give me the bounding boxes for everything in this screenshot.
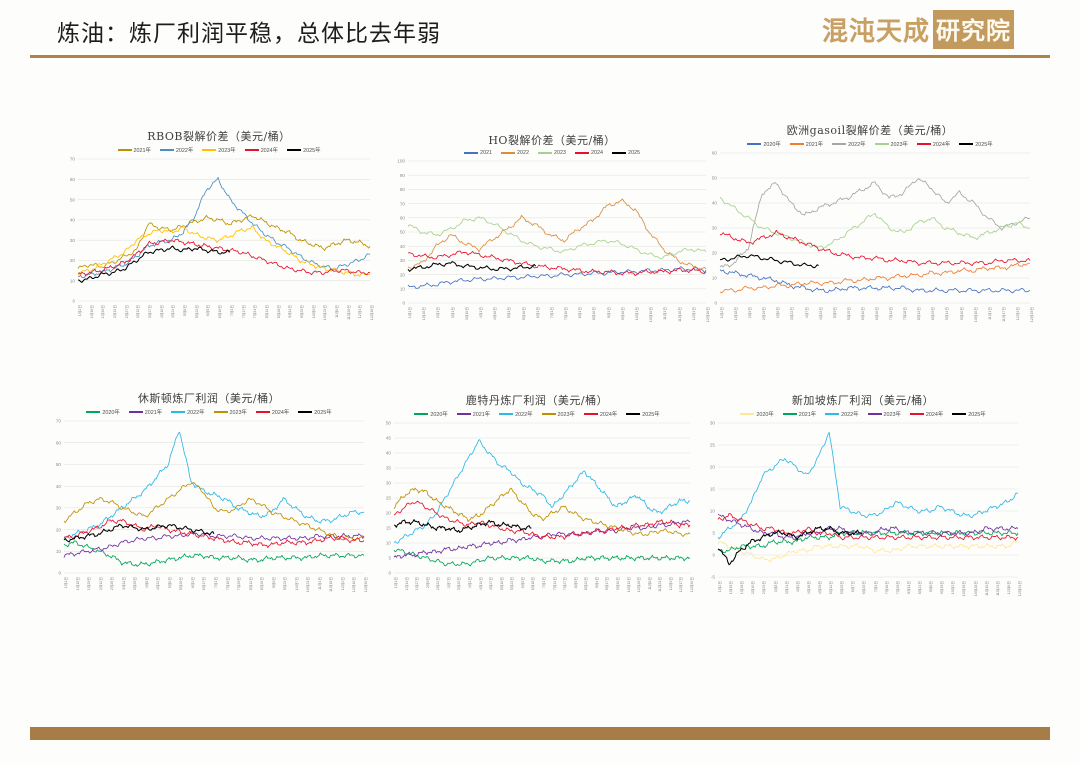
x-axis-tick-label: 4月23日 [819,307,824,320]
svg-text:25: 25 [710,443,716,448]
x-axis-tick-label: 3月11日 [122,577,127,590]
x-axis-tick-label: 3月6日 [776,307,781,318]
x-axis-tick-label: 11月21日 [658,577,663,592]
x-axis-tick-label: 11月18日 [329,577,334,592]
legend-item[interactable]: 2021年 [783,410,816,418]
svg-text:25: 25 [386,496,392,501]
legend-item[interactable]: 2024年 [245,146,278,154]
x-axis-tick-label: 9月23日 [283,577,288,590]
x-axis-tick-label: 5月23日 [510,577,515,590]
brand-logo: 混沌天成 研究院 [818,8,1014,50]
x-axis-tick-label: 2月22日 [436,577,441,590]
x-axis-tick-label: 3月7日 [447,577,452,588]
svg-text:10: 10 [56,549,62,554]
x-axis-tick-label: 11月6日 [335,305,340,318]
legend-item[interactable]: 2023年 [202,146,235,154]
legend-color-swatch [959,143,973,146]
svg-text:-5: -5 [711,575,716,580]
x-axis-tick-label: 6月7日 [851,581,856,592]
legend-color-swatch [584,413,598,416]
series-line [718,541,1018,562]
svg-text:30: 30 [712,226,718,231]
x-axis-tick-label: 11月1日 [663,307,668,320]
series-line [720,230,1030,265]
legend-label: 2023年 [558,410,575,418]
x-axis-tick-label: 7月29日 [237,577,242,590]
x-axis-tick-label: 12月16日 [352,577,357,592]
legend-item[interactable]: 2022年 [171,408,204,416]
chart-legend: 2020年2021年2022年2023年2024年2025年 [700,140,1040,148]
x-axis-labels: 1月2日1月16日1月30日2月13日2月27日3月13日3月27日4月10日4… [58,305,374,335]
svg-text:70: 70 [70,157,76,162]
svg-text:0: 0 [72,299,75,304]
chart-rbob-crack: RBOB裂解价差（美元/桶）2021年2022年2023年2024年2025年0… [58,128,380,335]
series-line [718,530,1018,552]
svg-text:70: 70 [400,201,406,206]
x-axis-tick-label: 4月24日 [171,305,176,318]
x-axis-tick-label: 3月1日 [451,307,456,318]
x-axis-tick-label: 3月8日 [774,581,779,592]
svg-text:90: 90 [400,173,406,178]
legend-item[interactable]: 2024年 [584,410,617,418]
x-axis-tick-label: 11月20日 [347,305,352,320]
x-axis-tick-label: 2月27日 [125,305,130,318]
legend-color-swatch [538,152,552,155]
legend-color-swatch [160,149,174,152]
legend-label: 2025年 [975,140,992,148]
x-axis-tick-label: 6月10日 [861,307,866,320]
x-axis-tick-label: 11月16日 [678,307,683,322]
x-axis-tick-label: 9月30日 [616,577,621,590]
legend-color-swatch [612,152,626,155]
x-axis-tick-label: 8月24日 [918,581,923,594]
legend-label: 2020年 [756,410,773,418]
svg-text:20: 20 [386,511,392,516]
x-axis-tick-label: 8月29日 [931,307,936,320]
legend-color-swatch [747,143,761,146]
x-axis-tick-label: 4月29日 [818,581,823,594]
series-line [78,177,370,277]
legend-label: 2025年 [314,408,331,416]
x-axis-labels: 1月2日1月18日2月3日2月19日3月6日3月22日4月7日4月23日5月9日… [700,307,1034,337]
x-axis-tick-label: 3月25日 [133,577,138,590]
x-axis-tick-label: 2月1日 [436,307,441,318]
svg-text:20: 20 [70,258,76,263]
x-axis-labels: 1月1日1月14日1月27日2月9日2月22日3月7日3月20日4月2日4月14… [374,577,694,607]
x-axis-tick-label: 2月13日 [113,305,118,318]
legend-item[interactable]: 2020年 [740,410,773,418]
legend-color-swatch [917,143,931,146]
legend-color-swatch [542,413,556,416]
plot-area: 05101520253035404550 [374,419,700,577]
legend-item[interactable]: 2022年 [832,140,865,148]
svg-text:40: 40 [400,244,406,249]
legend-item[interactable]: 2023 [538,150,566,156]
x-axis-tick-label: 2月26日 [110,577,115,590]
footer-bar [30,727,1050,740]
x-axis-tick-label: 8月13日 [917,307,922,320]
x-axis-tick-label: 10月21日 [306,577,311,592]
x-axis-tick-label: 10月16日 [649,307,654,322]
x-axis-tick-label: 6月19日 [218,305,223,318]
x-axis-tick-label: 12月19日 [1030,307,1035,322]
x-axis-tick-label: 9月6日 [929,581,934,592]
x-axis-tick-label: 9月16日 [621,307,626,320]
x-axis-tick-label: 2月12日 [99,577,104,590]
svg-text:10: 10 [70,278,76,283]
svg-text:20: 20 [712,251,718,256]
svg-text:100: 100 [397,159,405,164]
legend-item[interactable]: 2024年 [910,410,943,418]
legend-color-swatch [626,413,640,416]
x-axis-labels: 1月1日1月15日1月29日2月12日2月26日3月11日3月25日4月8日4月… [44,577,368,607]
x-axis-tick-label: 8月26日 [260,577,265,590]
x-axis-tick-label: 4月8日 [145,577,150,588]
svg-text:0: 0 [402,301,405,306]
legend-label: 2024 [591,150,603,156]
x-axis-tick-label: 5月6日 [168,577,173,588]
legend-label: 2024年 [600,410,617,418]
x-axis-tick-label: 6月5日 [206,305,211,316]
legend-color-swatch [868,413,882,416]
x-axis-tick-label: 9月17日 [605,577,610,590]
legend-label: 2025年 [968,410,985,418]
svg-text:5: 5 [388,556,391,561]
series-line [720,179,1030,268]
legend-item[interactable]: 2023年 [875,140,908,148]
chart-legend: 2021年2022年2023年2024年2025年 [58,146,380,154]
series-line [408,262,536,272]
x-axis-tick-label: 9月14日 [945,307,950,320]
x-axis-tick-label: 10月15日 [962,581,967,596]
legend-item[interactable]: 2023年 [214,408,247,416]
legend-item[interactable]: 2025 [612,150,640,156]
x-axis-tick-label: 9月11日 [288,305,293,318]
x-axis-tick-label: 5月16日 [522,307,527,320]
x-axis-tick-label: 10月26日 [637,577,642,592]
x-axis-tick-label: 10月23日 [323,305,328,320]
svg-text:50: 50 [400,230,406,235]
x-axis-tick-label: 5月12日 [829,581,834,594]
legend-color-swatch [910,413,924,416]
x-axis-tick-label: 1月29日 [87,577,92,590]
legend-color-swatch [256,411,270,414]
x-axis-tick-label: 3月21日 [785,581,790,594]
x-axis-tick-label: 5月1日 [507,307,512,318]
legend-item[interactable]: 2024年 [917,140,950,148]
x-axis-tick-label: 4月27日 [489,577,494,590]
x-axis-tick-label: 12月30日 [690,577,695,592]
x-axis-tick-label: 8月28日 [277,305,282,318]
legend-color-swatch [86,411,100,414]
legend-item[interactable]: 2025年 [287,146,320,154]
legend-item[interactable]: 2021年 [457,410,490,418]
legend-color-swatch [825,413,839,416]
plot-area: 010203040506070 [58,155,380,305]
plot-area: 0102030405060708090100 [388,157,716,307]
legend-label: 2025年 [642,410,659,418]
x-axis-tick-label: 12月30日 [364,577,369,592]
legend-label: 2024年 [926,410,943,418]
x-axis-tick-label: 10月28日 [974,581,979,596]
legend-color-swatch [952,413,966,416]
legend-label: 2023年 [218,146,235,154]
svg-text:10: 10 [386,541,392,546]
svg-text:70: 70 [56,419,62,424]
svg-text:30: 30 [56,506,62,511]
svg-text:0: 0 [388,571,391,576]
svg-text:15: 15 [710,487,716,492]
legend-item[interactable]: 2025年 [626,410,659,418]
legend-color-swatch [832,143,846,146]
x-axis-tick-label: 7月1日 [542,577,547,588]
series-line [408,267,706,289]
legend-label: 2022 [517,150,529,156]
series-line [408,217,706,259]
header-divider [30,55,1050,58]
x-axis-tick-label: 2月3日 [748,307,753,318]
x-axis-tick-label: 5月25日 [840,581,845,594]
legend-item[interactable]: 2025年 [298,408,331,416]
x-axis-tick-label: 3月20日 [457,577,462,590]
legend-label: 2024年 [272,408,289,416]
series-line [394,501,690,539]
x-axis-tick-label: 1月2日 [718,581,723,592]
legend-item[interactable]: 2021年 [790,140,823,148]
svg-text:60: 60 [70,177,76,182]
legend-item[interactable]: 2023年 [542,410,575,418]
svg-text:60: 60 [400,216,406,221]
legend-color-swatch [501,152,515,155]
x-axis-tick-label: 7月1日 [550,307,555,318]
legend-label: 2024年 [933,140,950,148]
legend-item[interactable]: 2024年 [256,408,289,416]
svg-text:0: 0 [714,301,717,306]
x-axis-tick-label: 5月9日 [833,307,838,318]
x-axis-tick-label: 7月16日 [885,581,890,594]
series-line [720,270,1030,293]
legend-label: 2021年 [134,146,151,154]
svg-text:15: 15 [386,526,392,531]
x-axis-tick-label: 10月9日 [312,305,317,318]
x-axis-tick-label: 10月1日 [635,307,640,320]
x-axis-tick-label: 8月1日 [578,307,583,318]
chart-grid: RBOB裂解价差（美元/桶）2021年2022年2023年2024年2025年0… [0,100,1080,700]
x-axis-tick-label: 9月1日 [607,307,612,318]
x-axis-tick-label: 5月25日 [847,307,852,320]
chart-title: HO裂解价差（美元/桶） [388,132,716,148]
legend-label: 2025年 [303,146,320,154]
legend-label: 2021年 [799,410,816,418]
x-axis-tick-label: 12月21日 [1018,581,1023,596]
legend-item[interactable]: 2020年 [414,410,447,418]
x-axis-tick-label: 5月20日 [179,577,184,590]
x-axis-tick-label: 12月3日 [669,577,674,590]
legend-color-swatch [875,143,889,146]
x-axis-tick-label: 6月3日 [191,577,196,588]
chart-legend: 20212022202320242025 [388,150,716,156]
legend-item[interactable]: 2024 [575,150,603,156]
x-axis-tick-label: 1月18日 [734,307,739,320]
legend-color-swatch [414,413,428,416]
legend-label: 2022年 [841,410,858,418]
series-line [718,432,1018,539]
legend-label: 2024年 [261,146,278,154]
x-axis-tick-label: 2月19日 [762,307,767,320]
x-axis-tick-label: 8月11日 [907,581,912,594]
legend-item[interactable]: 2022 [501,150,529,156]
x-axis-tick-label: 7月29日 [896,581,901,594]
legend-color-swatch [499,413,513,416]
x-axis-tick-label: 8月9日 [574,577,579,588]
legend-item[interactable]: 2020年 [747,140,780,148]
x-axis-tick-label: 9月4日 [595,577,600,588]
svg-text:20: 20 [400,272,406,277]
chart-legend: 2020年2021年2022年2023年2024年2025年 [44,408,374,416]
x-axis-tick-label: 2月9日 [426,577,431,588]
svg-text:60: 60 [712,151,718,156]
x-axis-tick-label: 12月2日 [341,577,346,590]
legend-label: 2020年 [102,408,119,416]
x-axis-tick-label: 7月27日 [563,577,568,590]
legend-item[interactable]: 2022年 [160,146,193,154]
legend-color-swatch [171,411,185,414]
x-axis-tick-label: 12月17日 [679,577,684,592]
x-axis-tick-label: 11月17日 [1002,307,1007,322]
legend-item[interactable]: 2021年 [129,408,162,416]
x-axis-tick-label: 5月22日 [195,305,200,318]
svg-text:60: 60 [56,440,62,445]
x-axis-tick-label: 6月18日 [531,577,536,590]
svg-text:30: 30 [70,238,76,243]
x-axis-tick-label: 10月7日 [295,577,300,590]
x-axis-tick-label: 12月1日 [692,307,697,320]
x-axis-tick-label: 4月1日 [479,307,484,318]
legend-item[interactable]: 2025年 [952,410,985,418]
legend-item[interactable]: 2023年 [868,410,901,418]
x-axis-tick-label: 5月8日 [183,305,188,316]
legend-label: 2023年 [884,410,901,418]
x-axis-tick-label: 8月12日 [249,577,254,590]
legend-label: 2021年 [806,140,823,148]
legend-item[interactable]: 2021年 [118,146,151,154]
x-axis-tick-label: 11月23日 [996,581,1001,596]
x-axis-tick-label: 9月9日 [272,577,277,588]
legend-item[interactable]: 2020年 [86,408,119,416]
x-axis-tick-label: 2月10日 [751,581,756,594]
x-axis-tick-label: 2月23日 [762,581,767,594]
chart-eu-gasoil-crack: 欧洲gasoil裂解价差（美元/桶）2020年2021年2022年2023年20… [700,122,1040,337]
series-line [408,199,706,270]
x-axis-tick-label: 10月16日 [974,307,979,322]
page-title: 炼油：炼厂利润平稳，总体比去年弱 [57,14,441,48]
x-axis-tick-label: 6月5日 [521,577,526,588]
svg-text:0: 0 [712,553,715,558]
x-axis-labels: 1月1日1月16日2月1日3月1日3月16日4月1日4月16日5月1日5月16日… [388,307,710,337]
legend-label: 2023 [554,150,566,156]
x-axis-tick-label: 7月3日 [230,305,235,316]
legend-color-swatch [287,149,301,152]
x-axis-tick-label: 1月15日 [76,577,81,590]
x-axis-tick-label: 7月14日 [553,577,558,590]
legend-item[interactable]: 2025年 [959,140,992,148]
x-axis-tick-label: 6月1日 [536,307,541,318]
svg-text:40: 40 [386,451,392,456]
legend-color-swatch [118,149,132,152]
chart-rotterdam-refining-margin: 鹿特丹炼厂利润（美元/桶）2020年2021年2022年2023年2024年20… [374,392,700,607]
svg-text:80: 80 [400,187,406,192]
legend-label: 2020年 [430,410,447,418]
legend-color-swatch [245,149,259,152]
legend-label: 2021 [480,150,492,156]
chart-legend: 2020年2021年2022年2023年2024年2025年 [374,410,700,418]
x-axis-tick-label: 4月2日 [468,577,473,588]
legend-color-swatch [298,411,312,414]
logo-box-text: 研究院 [933,10,1014,49]
plot-area: 0102030405060 [700,149,1040,307]
legend-color-swatch [214,411,228,414]
legend-item[interactable]: 2022年 [499,410,532,418]
chart-title: 欧洲gasoil裂解价差（美元/桶） [700,122,1040,138]
x-axis-tick-label: 7月31日 [253,305,258,318]
svg-text:10: 10 [710,509,716,514]
svg-text:50: 50 [712,176,718,181]
x-axis-tick-label: 3月16日 [465,307,470,320]
series-line [720,197,1030,248]
legend-item[interactable]: 2021 [464,150,492,156]
x-axis-tick-label: 1月2日 [720,307,725,318]
x-axis-tick-label: 3月13日 [136,305,141,318]
plot-area: 010203040506070 [44,417,374,577]
chart-title: 休斯顿炼厂利润（美元/桶） [44,390,374,406]
x-axis-tick-label: 1月16日 [90,305,95,318]
x-axis-tick-label: 3月27日 [148,305,153,318]
legend-color-swatch [464,152,478,155]
svg-text:0: 0 [58,571,61,576]
legend-item[interactable]: 2022年 [825,410,858,418]
svg-text:40: 40 [70,218,76,223]
x-axis-tick-label: 4月10日 [160,305,165,318]
slide-header: 炼油：炼厂利润平稳，总体比去年弱 混沌天成 研究院 [0,0,1080,60]
x-axis-tick-label: 4月7日 [805,307,810,318]
legend-color-swatch [129,411,143,414]
legend-color-swatch [457,413,471,416]
chart-title: 鹿特丹炼厂利润（美元/桶） [374,392,700,408]
chart-legend: 2020年2021年2022年2023年2024年2025年 [698,410,1028,418]
svg-text:30: 30 [400,258,406,263]
chart-title: 新加坡炼厂利润（美元/桶） [698,392,1028,408]
series-line [64,432,364,538]
svg-text:45: 45 [386,436,392,441]
x-axis-tick-label: 11月4日 [318,577,323,590]
chart-title: RBOB裂解价差（美元/桶） [58,128,380,144]
x-axis-tick-label: 9月25日 [300,305,305,318]
x-axis-tick-label: 4月16日 [807,581,812,594]
x-axis-tick-label: 1月1日 [394,577,399,588]
x-axis-tick-label: 6月26日 [875,307,880,320]
svg-text:30: 30 [386,481,392,486]
x-axis-tick-label: 6月17日 [202,577,207,590]
series-line [394,520,690,558]
svg-text:30: 30 [710,421,716,426]
chart-ho-crack: HO裂解价差（美元/桶）2021202220232024202501020304… [388,132,716,337]
x-axis-tick-label: 11月1日 [988,307,993,320]
x-axis-tick-label: 1月28日 [740,581,745,594]
svg-text:10: 10 [712,276,718,281]
x-axis-tick-label: 1月30日 [101,305,106,318]
legend-label: 2025 [628,150,640,156]
series-line [64,483,364,541]
